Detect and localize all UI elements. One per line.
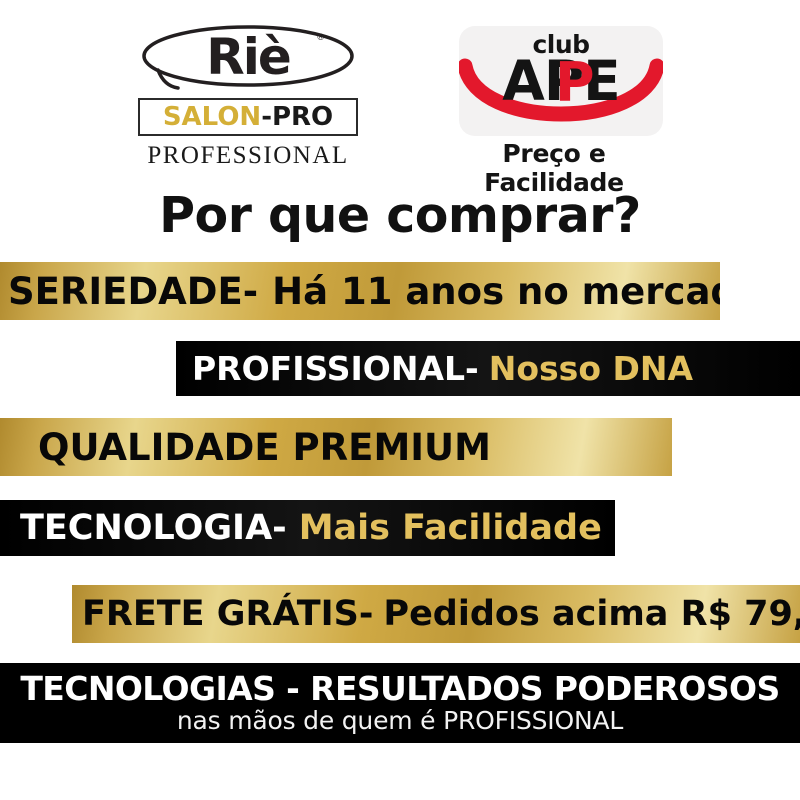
logo-row: Riè ® SALON-PRO PROFESSIONAL club APE P … [0,0,800,182]
rie-wordmark: Riè [134,24,362,92]
banner-qualidade-primary: QUALIDADE PREMIUM [0,429,491,466]
banner-tecnologia: TECNOLOGIA- Mais Facilidade [0,500,615,556]
footer-subtext: nas mãos de quem é PROFISSIONAL [177,708,623,734]
banner-profissional-primary: PROFISSIONAL- [176,352,479,385]
banner-profissional-secondary: Nosso DNA [479,352,693,385]
banner-seriedade: SERIEDADE- Há 11 anos no mercado [0,262,720,320]
banner-frete-primary: FRETE GRÁTIS- [72,597,373,632]
footer-banner: TECNOLOGIAS - RESULTADOS PODEROSOS nas m… [0,663,800,743]
rie-oval-container: Riè ® [134,24,362,92]
salon-label: SALON [163,104,261,130]
ape-red-p-overlay: P [555,56,595,110]
banner-frete-gratis: FRETE GRÁTIS- Pedidos acima R$ 79,90 [72,585,800,643]
pro-label: -PRO [261,104,333,130]
registered-mark-icon: ® [317,32,324,42]
club-ape-box: club APE P [459,26,663,136]
footer-headline: TECNOLOGIAS - RESULTADOS PODEROSOS [20,672,779,707]
professional-subtitle: PROFESSIONAL [134,142,362,170]
banner-qualidade: QUALIDADE PREMIUM [0,418,672,476]
rie-salon-pro-logo: Riè ® SALON-PRO PROFESSIONAL [134,24,362,176]
banner-tecnologia-primary: TECNOLOGIA- [0,511,287,546]
banner-profissional: PROFISSIONAL- Nosso DNA [176,341,800,396]
banner-seriedade-secondary: Há 11 anos no mercado [258,273,720,310]
banner-tecnologia-secondary: Mais Facilidade [287,511,602,546]
banner-frete-secondary: Pedidos acima R$ 79,90 [373,597,800,632]
club-ape-logo: club APE P Preço e Facilidade [452,26,670,176]
promotional-poster: Riè ® SALON-PRO PROFESSIONAL club APE P … [0,0,800,800]
banner-seriedade-primary: SERIEDADE- [0,273,258,310]
page-title: Por que comprar? [0,190,800,241]
salon-pro-box: SALON-PRO [138,98,358,136]
